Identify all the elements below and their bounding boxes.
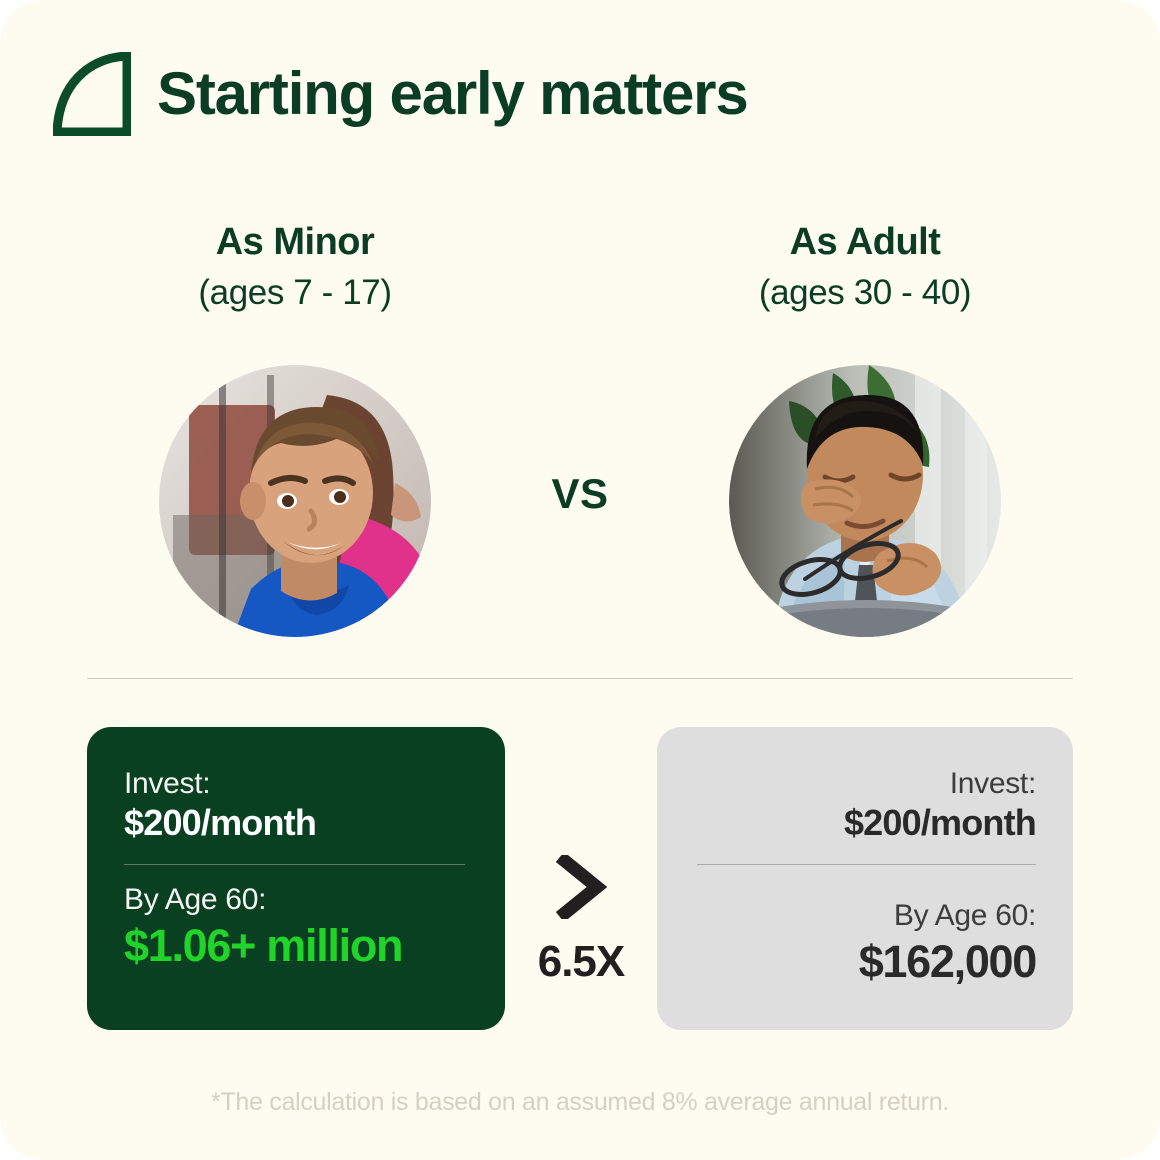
vs-label: VS <box>500 470 660 518</box>
footnote: *The calculation is based on an assumed … <box>0 1088 1160 1117</box>
invest-label-adult: Invest: <box>697 767 1036 801</box>
page-title: Starting early matters <box>157 64 748 124</box>
infographic-panel: Starting early matters As Minor (ages 7 … <box>0 0 1160 1160</box>
result-block-minor: By Age 60: $1.06+ million <box>124 883 465 971</box>
multiplier-group: 6.5X <box>505 855 657 987</box>
result-value-minor: $1.06+ million <box>124 921 465 971</box>
result-block-adult: By Age 60: $162,000 <box>697 899 1036 987</box>
card-divider-adult <box>697 864 1036 865</box>
column-subtitle-minor: (ages 7 - 17) <box>95 274 495 313</box>
column-header-minor: As Minor (ages 7 - 17) <box>95 222 495 312</box>
header: Starting early matters <box>53 52 748 136</box>
card-divider-minor <box>124 864 465 865</box>
column-title-adult: As Adult <box>665 222 1065 264</box>
photo-adult <box>729 365 1001 637</box>
section-divider <box>87 678 1073 679</box>
result-card-minor: Invest: $200/month By Age 60: $1.06+ mil… <box>87 727 505 1030</box>
result-label-minor: By Age 60: <box>124 883 465 917</box>
column-header-adult: As Adult (ages 30 - 40) <box>665 222 1065 312</box>
invest-value-minor: $200/month <box>124 803 465 843</box>
chevron-right-icon <box>505 855 657 924</box>
multiplier-value: 6.5X <box>505 937 657 987</box>
invest-block-minor: Invest: $200/month <box>124 767 465 843</box>
invest-block-adult: Invest: $200/month <box>697 767 1036 843</box>
column-title-minor: As Minor <box>95 222 495 264</box>
invest-label-minor: Invest: <box>124 767 465 801</box>
result-card-adult: Invest: $200/month By Age 60: $162,000 <box>657 727 1073 1030</box>
column-subtitle-adult: (ages 30 - 40) <box>665 274 1065 313</box>
result-value-adult: $162,000 <box>697 937 1036 987</box>
result-label-adult: By Age 60: <box>697 899 1036 933</box>
photo-minor <box>159 365 431 637</box>
quarter-arc-logo-icon <box>53 52 131 136</box>
invest-value-adult: $200/month <box>697 803 1036 843</box>
card-spacer-adult <box>697 883 1036 899</box>
